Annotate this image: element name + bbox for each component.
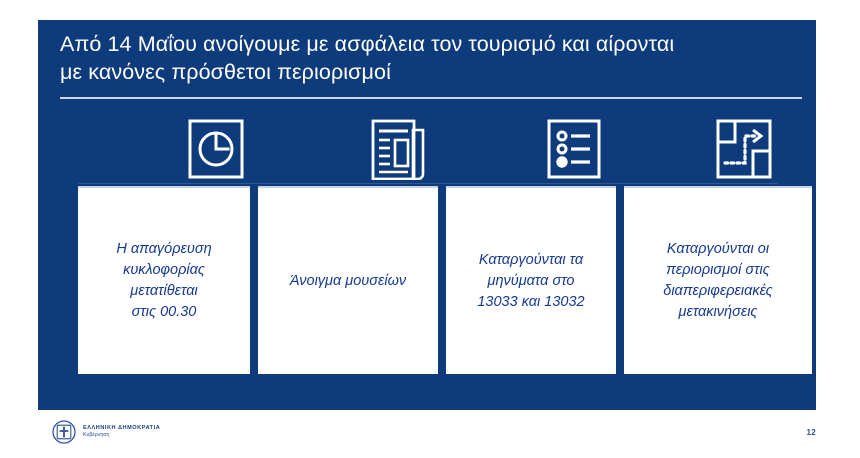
info-card-text: Καταργούνται τα μηνύματα στο 13033 και 1… (477, 250, 584, 313)
title-line-2: με κανόνες πρόσθετοι περιορισμοί (60, 58, 800, 86)
slide-content-panel: Από 14 Μαΐου ανοίγουμε με ασφάλεια τον τ… (38, 20, 816, 410)
info-card: Καταργούνται τα μηνύματα στο 13033 και 1… (446, 186, 616, 374)
route-map-icon (715, 118, 773, 180)
icon-cell-2 (313, 110, 485, 188)
cards-row: Η απαγόρευση κυκλοφορίας μετατίθεται στι… (78, 186, 778, 376)
info-card: Καταργούνται οι περιορισμοί στις διαπερι… (624, 186, 812, 374)
newspaper-icon (369, 118, 429, 180)
info-card-text: Καταργούνται οι περιορισμοί στις διαπερι… (663, 239, 772, 323)
presentation-slide: Από 14 Μαΐου ανοίγουμε με ασφάλεια τον τ… (0, 0, 860, 458)
icon-cell-4 (658, 110, 830, 188)
department-name: Κυβέρνηση (83, 433, 160, 438)
government-logo: ΕΛΛΗΝΙΚΗ ΔΗΜΟΚΡΑΤΙΑ Κυβέρνηση (52, 420, 133, 444)
info-card-text: Η απαγόρευση κυκλοφορίας μετατίθεται στι… (116, 239, 211, 323)
page-number: 12 (807, 428, 817, 437)
icon-cell-1 (130, 110, 302, 188)
greek-republic-emblem-icon (52, 420, 76, 444)
icon-cell-3 (488, 110, 660, 188)
info-card-text: Άνοιγμα μουσείων (290, 271, 406, 292)
title-line-1: Από 14 Μαΐου ανοίγουμε με ασφάλεια τον τ… (60, 30, 800, 58)
icon-row (38, 110, 816, 188)
title-underline (60, 97, 802, 99)
slide-footer: ΕΛΛΗΝΙΚΗ ΔΗΜΟΚΡΑΤΙΑ Κυβέρνηση 12 (0, 412, 860, 458)
checklist-icon (546, 118, 602, 180)
icon-divider (78, 183, 778, 184)
info-card: Άνοιγμα μουσείων (258, 186, 438, 374)
logo-text-group: ΕΛΛΗΝΙΚΗ ΔΗΜΟΚΡΑΤΙΑ Κυβέρνηση (83, 427, 133, 437)
clock-icon (187, 118, 245, 180)
slide-title: Από 14 Μαΐου ανοίγουμε με ασφάλεια τον τ… (60, 30, 800, 86)
info-card: Η απαγόρευση κυκλοφορίας μετατίθεται στι… (78, 186, 250, 374)
